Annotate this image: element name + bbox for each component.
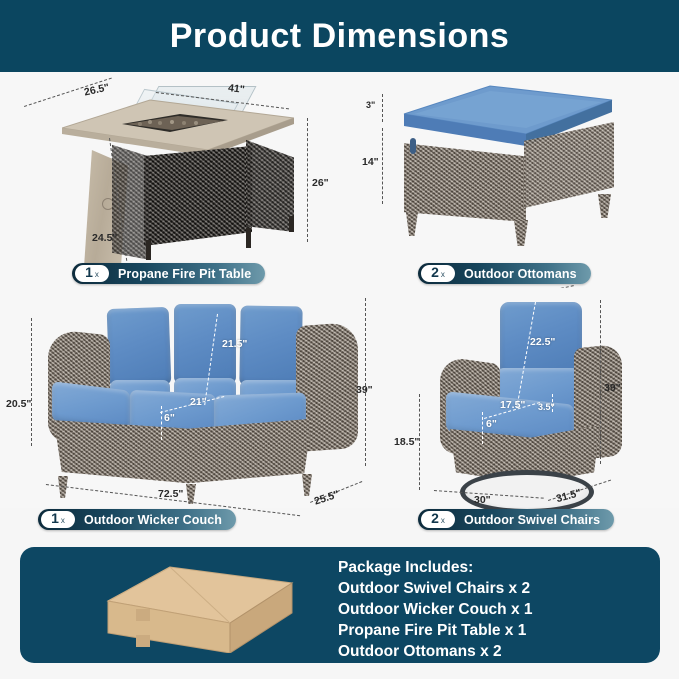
badge-count: 1 bbox=[51, 511, 59, 525]
product-panel-swivel-chair: 22.5" 17.5" 6" 3.5" 39" 18.5" 30" 31.5" bbox=[388, 288, 679, 508]
badge-multiplier: x bbox=[95, 271, 99, 279]
chair-dim-22-5: 22.5" bbox=[530, 336, 555, 348]
couch-dim-21-5: 21.5" bbox=[222, 338, 247, 350]
page-title: Product Dimensions bbox=[170, 17, 510, 56]
package-text-block: Package Includes: Outdoor Swivel Chairs … bbox=[338, 557, 533, 662]
firepit-dim-line-26 bbox=[307, 118, 308, 242]
chair-dim-line-39 bbox=[600, 300, 601, 464]
chair-dim-line-6 bbox=[482, 412, 483, 444]
badge-count-wrapper: 1 x bbox=[75, 265, 109, 282]
couch-back-cushion-right bbox=[239, 305, 302, 386]
firepit-tabletop-shape bbox=[62, 98, 294, 152]
product-panel-fire-pit: 26.5" 41" 26" 24.5" 9.5" 31" 19" bbox=[0, 72, 340, 288]
package-item: Propane Fire Pit Table x 1 bbox=[338, 620, 533, 641]
couch-dim-line-39 bbox=[365, 298, 366, 466]
firepit-dim-26: 26" bbox=[312, 177, 329, 189]
chair-dim-3-5: 3.5" bbox=[538, 402, 555, 412]
badge-label: Outdoor Swivel Chairs bbox=[455, 513, 612, 527]
badge-multiplier: x bbox=[441, 271, 445, 279]
package-item: Outdoor Ottomans x 2 bbox=[338, 641, 533, 662]
ottoman-leg-left bbox=[406, 212, 418, 236]
couch-dim-line-6 bbox=[161, 406, 162, 440]
couch-dim-21: 21" bbox=[190, 396, 207, 408]
badge-count-wrapper: 2 x bbox=[421, 511, 455, 528]
shipping-box-shape bbox=[100, 561, 300, 653]
firepit-dim-24-5: 24.5" bbox=[92, 232, 117, 244]
badge-outdoor-ottomans[interactable]: 2 x Outdoor Ottomans bbox=[418, 263, 591, 284]
firepit-leg-right bbox=[246, 228, 251, 248]
ottoman-leg-right bbox=[598, 194, 611, 218]
firepit-dim-26-5: 26.5" bbox=[83, 81, 110, 98]
ottoman-lid-latch bbox=[410, 138, 416, 154]
couch-dim-20-5: 20.5" bbox=[6, 398, 31, 410]
badge-multiplier: x bbox=[61, 517, 65, 525]
firepit-body-front bbox=[144, 146, 252, 246]
badge-count: 1 bbox=[85, 265, 93, 279]
firepit-dim-41: 41" bbox=[227, 82, 245, 96]
badge-multiplier: x bbox=[441, 517, 445, 525]
ottoman-dim-line-3 bbox=[382, 94, 383, 122]
chair-dim-6: 6" bbox=[486, 418, 497, 430]
firepit-tabletop bbox=[62, 98, 294, 152]
couch-leg-right bbox=[302, 474, 312, 496]
badge-count: 2 bbox=[431, 265, 439, 279]
badge-label: Propane Fire Pit Table bbox=[109, 267, 263, 281]
badge-count-wrapper: 2 x bbox=[421, 265, 455, 282]
shipping-box-illustration bbox=[100, 561, 300, 653]
package-item: Outdoor Swivel Chairs x 2 bbox=[338, 578, 533, 599]
chair-dim-30: 30" bbox=[474, 494, 491, 506]
product-panel-couch: 21.5" 21" 6" 20.5" 39" 72.5" 25.5" bbox=[0, 288, 388, 508]
chair-dim-18-5: 18.5" bbox=[394, 436, 419, 448]
couch-dim-25-5: 25.5" bbox=[313, 488, 341, 507]
chair-dim-17-5: 17.5" bbox=[500, 399, 525, 411]
couch-back-cushion-left bbox=[107, 307, 172, 387]
firepit-leg-front bbox=[146, 240, 151, 260]
ottoman-dim-14: 14" bbox=[362, 156, 379, 168]
couch-dim-line-20-5 bbox=[31, 318, 32, 446]
ottoman-leg-front bbox=[514, 220, 528, 246]
couch-dim-72-5: 72.5" bbox=[158, 488, 183, 500]
chair-dim-39: 39" bbox=[604, 382, 621, 394]
badge-label: Outdoor Wicker Couch bbox=[75, 513, 234, 527]
package-heading: Package Includes: bbox=[338, 557, 533, 578]
ottoman-body-front bbox=[404, 140, 526, 222]
couch-dim-6: 6" bbox=[164, 412, 175, 424]
infographic-page: Product Dimensions bbox=[0, 0, 679, 679]
badge-propane-fire-pit-table[interactable]: 1 x Propane Fire Pit Table bbox=[72, 263, 265, 284]
ottoman-dim-line-14 bbox=[382, 128, 383, 204]
firepit-leg-back bbox=[289, 216, 294, 232]
badge-count: 2 bbox=[431, 511, 439, 525]
package-item: Outdoor Wicker Couch x 1 bbox=[338, 599, 533, 620]
badge-outdoor-swivel-chairs[interactable]: 2 x Outdoor Swivel Chairs bbox=[418, 509, 614, 530]
ottoman-dim-3: 3" bbox=[366, 100, 375, 110]
product-panel-ottoman: 3" 14" 22" 22" bbox=[340, 72, 679, 288]
badge-count-wrapper: 1 x bbox=[41, 511, 75, 528]
badge-label: Outdoor Ottomans bbox=[455, 267, 589, 281]
package-includes-panel: Package Includes: Outdoor Swivel Chairs … bbox=[20, 547, 660, 663]
badge-outdoor-wicker-couch[interactable]: 1 x Outdoor Wicker Couch bbox=[38, 509, 236, 530]
page-header: Product Dimensions bbox=[0, 0, 679, 72]
couch-dim-39: 39" bbox=[356, 384, 373, 396]
